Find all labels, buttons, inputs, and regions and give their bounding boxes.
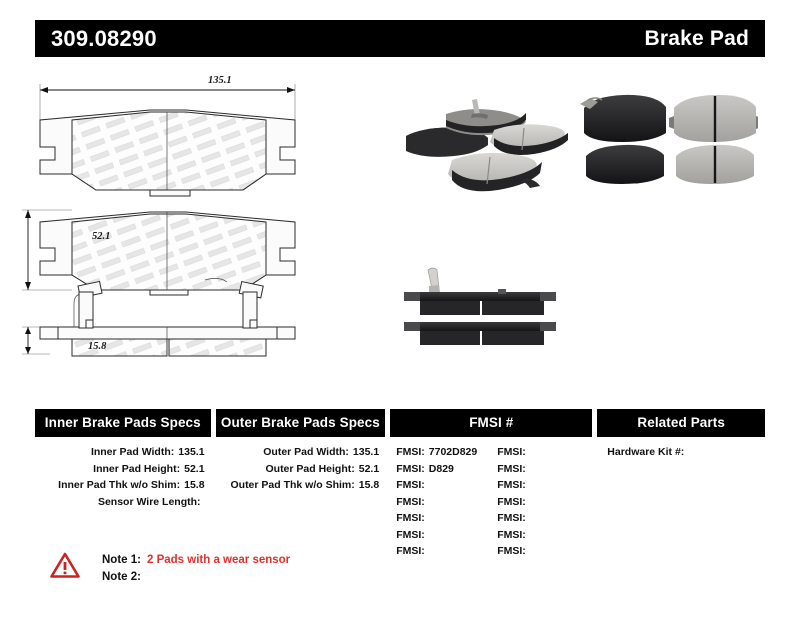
spec-label: Outer Pad Height: (265, 463, 354, 475)
note-lines: Note 1:2 Pads with a wear sensor Note 2: (102, 552, 290, 586)
spec-label: Sensor Wire Length: (98, 496, 201, 508)
outer-specs-cell: Outer Pad Width:135.1 Outer Pad Height:5… (216, 444, 386, 560)
drawing-area: 135.1 52.1 15.8 (0, 62, 800, 392)
dimension-thickness-label: 15.8 (88, 341, 106, 352)
note-value: 2 Pads with a wear sensor (147, 554, 290, 566)
fmsi-label: FMSI: (396, 463, 425, 475)
spec-label: Inner Pad Width: (91, 446, 174, 458)
fmsi-row: FMSI: (390, 494, 491, 511)
fmsi-label: FMSI: (497, 479, 526, 491)
fmsi-label: FMSI: (396, 545, 425, 557)
spec-value: 52.1 (184, 463, 204, 475)
cad-drawing-group (0, 62, 400, 392)
fmsi-row: FMSI: (491, 477, 592, 494)
spec-label: Outer Pad Thk w/o Shim: (230, 479, 354, 491)
spec-table: Inner Brake Pads Specs Outer Brake Pads … (35, 409, 765, 560)
spec-value: 135.1 (353, 446, 379, 458)
spec-label: Inner Pad Height: (93, 463, 180, 475)
spec-label: Outer Pad Width: (263, 446, 349, 458)
spec-table-header-row: Inner Brake Pads Specs Outer Brake Pads … (35, 409, 765, 437)
note-label: Note 1: (102, 552, 141, 569)
fmsi-label: FMSI: (497, 512, 526, 524)
fmsi-cell: FMSI:7702D829 FMSI:D829 FMSI: FMSI: FMSI (390, 444, 592, 560)
column-header-inner-specs: Inner Brake Pads Specs (35, 409, 211, 437)
angled-pad-set-photo (398, 92, 568, 202)
fmsi-row: FMSI: (390, 543, 491, 560)
fmsi-row: FMSI:7702D829 (390, 444, 491, 461)
product-type: Brake Pad (644, 27, 749, 51)
pad-edge-view (40, 292, 295, 356)
fmsi-value: 7702D829 (429, 446, 477, 458)
fmsi-label: FMSI: (497, 529, 526, 541)
note-row: Note 2: (102, 569, 290, 586)
related-part-label: Hardware Kit #: (607, 446, 684, 458)
spec-value: 15.8 (184, 479, 204, 491)
related-part-row: Hardware Kit #: (607, 444, 765, 461)
column-header-fmsi: FMSI # (390, 409, 592, 437)
spec-label: Inner Pad Thk w/o Shim: (58, 479, 180, 491)
dimension-height-label: 52.1 (92, 231, 110, 242)
flat-pad-set-photo (578, 90, 758, 198)
fmsi-row: FMSI: (390, 510, 491, 527)
fmsi-row: FMSI: (390, 477, 491, 494)
spec-sheet-page: 309.08290 Brake Pad (0, 0, 800, 619)
spec-row: Inner Pad Thk w/o Shim:15.8 (35, 477, 205, 494)
fmsi-label: FMSI: (497, 545, 526, 557)
notes-section: Note 1:2 Pads with a wear sensor Note 2: (50, 552, 290, 586)
fmsi-row: FMSI: (491, 444, 592, 461)
spec-value: 52.1 (359, 463, 379, 475)
fmsi-row: FMSI: (491, 527, 592, 544)
fmsi-label: FMSI: (396, 446, 425, 458)
fmsi-label: FMSI: (396, 496, 425, 508)
fmsi-row: FMSI: (491, 543, 592, 560)
fmsi-right-column: FMSI: FMSI: FMSI: FMSI: FMSI: (491, 444, 592, 560)
fmsi-label: FMSI: (497, 496, 526, 508)
fmsi-row: FMSI: (390, 527, 491, 544)
related-parts-cell: Hardware Kit #: (597, 444, 765, 560)
spec-value: 15.8 (359, 479, 379, 491)
spec-row: Inner Pad Height:52.1 (35, 461, 205, 478)
spec-row: Outer Pad Height:52.1 (216, 461, 380, 478)
note-label: Note 2: (102, 569, 141, 586)
fmsi-row: FMSI: (491, 461, 592, 478)
fmsi-row: FMSI: (491, 510, 592, 527)
spec-row: Sensor Wire Length: (35, 494, 205, 511)
fmsi-value: D829 (429, 463, 454, 475)
part-number: 309.08290 (51, 26, 157, 52)
spec-row: Outer Pad Thk w/o Shim:15.8 (216, 477, 380, 494)
pad-plan-view-top (40, 110, 295, 196)
inner-specs-cell: Inner Pad Width:135.1 Inner Pad Height:5… (35, 444, 211, 560)
fmsi-label: FMSI: (497, 463, 526, 475)
pad-plan-view-middle (40, 212, 295, 298)
dimension-width-label: 135.1 (208, 75, 232, 86)
edge-view-pad-photo (398, 260, 566, 352)
spec-row: Outer Pad Width:135.1 (216, 444, 380, 461)
spec-row: Inner Pad Width:135.1 (35, 444, 205, 461)
column-header-related-parts: Related Parts (597, 409, 765, 437)
fmsi-label: FMSI: (396, 529, 425, 541)
fmsi-row: FMSI:D829 (390, 461, 491, 478)
fmsi-label: FMSI: (396, 512, 425, 524)
fmsi-label: FMSI: (497, 446, 526, 458)
title-bar: 309.08290 Brake Pad (35, 20, 765, 57)
spec-value: 135.1 (178, 446, 204, 458)
fmsi-row: FMSI: (491, 494, 592, 511)
note-row: Note 1:2 Pads with a wear sensor (102, 552, 290, 569)
spec-table-body-row: Inner Pad Width:135.1 Inner Pad Height:5… (35, 444, 765, 560)
column-header-outer-specs: Outer Brake Pads Specs (216, 409, 386, 437)
warning-triangle-icon (50, 552, 80, 578)
fmsi-label: FMSI: (396, 479, 425, 491)
fmsi-left-column: FMSI:7702D829 FMSI:D829 FMSI: FMSI: FMSI (390, 444, 491, 560)
